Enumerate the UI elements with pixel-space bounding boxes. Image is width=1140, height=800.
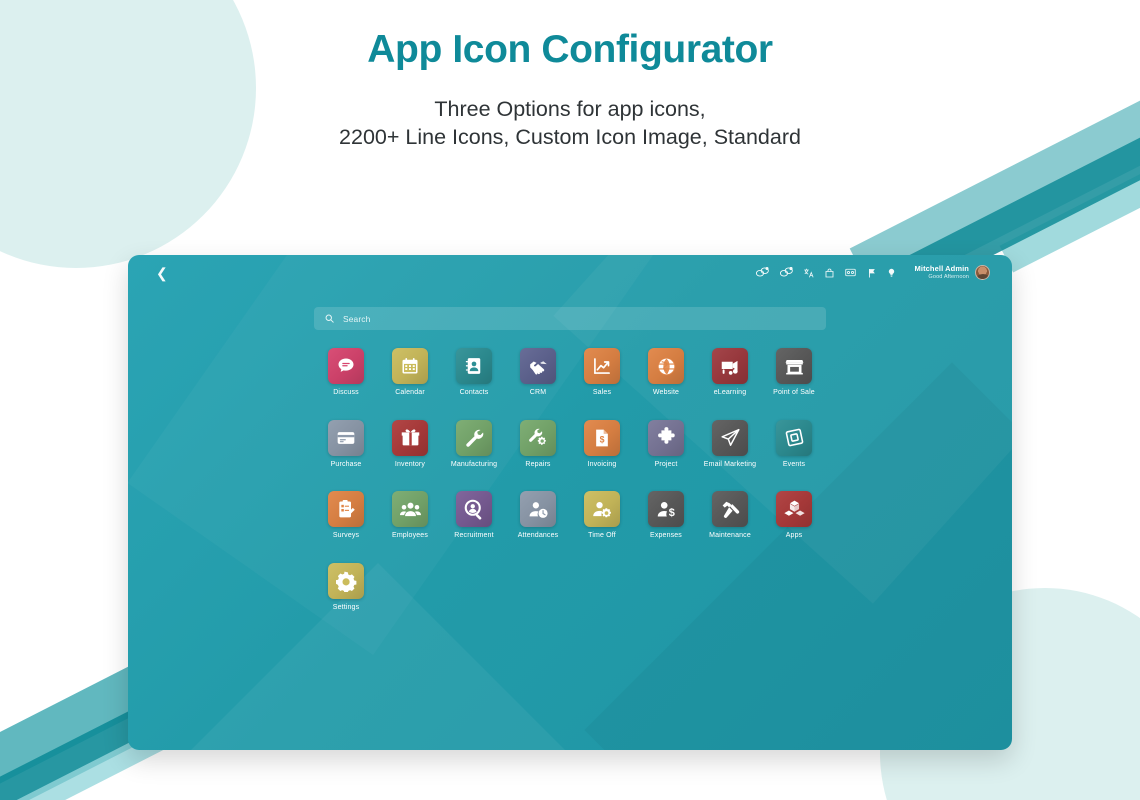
app-label: Apps (786, 532, 803, 540)
subtitle-line-1: Three Options for app icons, (0, 95, 1140, 123)
app-item-surveys[interactable]: Surveys (314, 491, 378, 540)
bag-icon[interactable] (825, 268, 834, 278)
hammer-icon (712, 491, 748, 527)
storefront-icon (776, 348, 812, 384)
app-item-crm[interactable]: CRM (506, 348, 570, 397)
page-title: App Icon Configurator (0, 28, 1140, 73)
promo-headings: App Icon Configurator Three Options for … (0, 28, 1140, 152)
app-label: Point of Sale (773, 389, 815, 397)
gear-icon (328, 563, 364, 599)
svg-text:$: $ (600, 434, 605, 444)
app-item-attendances[interactable]: Attendances (506, 491, 570, 540)
avatar[interactable] (975, 265, 990, 280)
app-item-maintenance[interactable]: Maintenance (698, 491, 762, 540)
app-label: Discuss (333, 389, 359, 397)
search-row: Search (128, 291, 1012, 330)
app-label: Attendances (518, 532, 559, 540)
systray: Mitchell Admin Good Afternoon (756, 265, 990, 280)
user-name: Mitchell Admin (915, 265, 969, 274)
app-item-sales[interactable]: Sales (570, 348, 634, 397)
person-gear-icon (584, 491, 620, 527)
user-text: Mitchell Admin Good Afternoon (915, 265, 969, 280)
subtitle-line-2: 2200+ Line Icons, Custom Icon Image, Sta… (0, 123, 1140, 151)
puzzle-icon (648, 420, 684, 456)
svg-text:$: $ (668, 507, 674, 519)
app-label: Email Marketing (704, 461, 756, 469)
promo-banner: App Icon Configurator Three Options for … (0, 0, 1140, 800)
app-label: Purchase (331, 461, 362, 469)
page-subtitle: Three Options for app icons, 2200+ Line … (0, 95, 1140, 152)
search-input[interactable]: Search (314, 307, 826, 330)
app-item-elearning[interactable]: eLearning (698, 348, 762, 397)
calendar-icon (392, 348, 428, 384)
app-item-apps[interactable]: Apps (762, 491, 826, 540)
app-item-discuss[interactable]: Discuss (314, 348, 378, 397)
paper-plane-icon (712, 420, 748, 456)
app-grid-area: DiscussCalendarContactsCRMSalesWebsiteeL… (128, 330, 1012, 612)
cubes-icon (776, 491, 812, 527)
app-item-settings[interactable]: Settings (314, 563, 378, 612)
magnifier-icon (456, 491, 492, 527)
app-item-calendar[interactable]: Calendar (378, 348, 442, 397)
app-label: Maintenance (709, 532, 751, 540)
app-label: Surveys (333, 532, 359, 540)
app-item-email-marketing[interactable]: Email Marketing (698, 420, 762, 469)
app-item-point-of-sale[interactable]: Point of Sale (762, 348, 826, 397)
credit-card-icon (328, 420, 364, 456)
wrench-gear-icon (520, 420, 556, 456)
app-item-inventory[interactable]: Inventory (378, 420, 442, 469)
app-item-manufacturing[interactable]: Manufacturing (442, 420, 506, 469)
app-item-repairs[interactable]: Repairs (506, 420, 570, 469)
chevron-left-icon[interactable]: ❮ (156, 266, 168, 280)
app-label: Employees (392, 532, 428, 540)
app-label: CRM (530, 389, 546, 397)
chat-icon (328, 348, 364, 384)
activity-bubble-icon[interactable] (780, 267, 793, 278)
handshake-icon (520, 348, 556, 384)
app-grid: DiscussCalendarContactsCRMSalesWebsiteeL… (314, 348, 826, 612)
wrench-icon (456, 420, 492, 456)
app-item-project[interactable]: Project (634, 420, 698, 469)
contact-card-icon (456, 348, 492, 384)
app-item-invoicing[interactable]: $Invoicing (570, 420, 634, 469)
box-icon (392, 420, 428, 456)
app-label: Repairs (525, 461, 550, 469)
app-label: Sales (593, 389, 611, 397)
projector-icon (712, 348, 748, 384)
app-label: Expenses (650, 532, 682, 540)
app-label: Recruitment (454, 532, 493, 540)
card-icon[interactable] (845, 268, 856, 277)
app-label: Manufacturing (451, 461, 497, 469)
person-clock-icon (520, 491, 556, 527)
app-label: Project (655, 461, 678, 469)
app-label: Time Off (588, 532, 616, 540)
app-label: Events (783, 461, 805, 469)
app-label: Settings (333, 604, 360, 612)
app-label: Contacts (460, 389, 489, 397)
invoice-icon: $ (584, 420, 620, 456)
app-item-contacts[interactable]: Contacts (442, 348, 506, 397)
app-label: Inventory (395, 461, 425, 469)
app-label: Website (653, 389, 679, 397)
app-item-employees[interactable]: Employees (378, 491, 442, 540)
people-icon (392, 491, 428, 527)
user-menu[interactable]: Mitchell Admin Good Afternoon (915, 265, 990, 280)
flag-icon[interactable] (867, 268, 876, 278)
app-label: Invoicing (588, 461, 617, 469)
search-placeholder: Search (343, 314, 370, 324)
search-icon (325, 314, 334, 323)
app-item-purchase[interactable]: Purchase (314, 420, 378, 469)
clipboard-icon (328, 491, 364, 527)
app-label: Calendar (395, 389, 425, 397)
app-item-expenses[interactable]: $Expenses (634, 491, 698, 540)
app-window: ❮ (128, 255, 1012, 750)
translate-icon[interactable] (804, 268, 814, 278)
messages-bubble-icon[interactable] (756, 267, 769, 278)
app-item-events[interactable]: Events (762, 420, 826, 469)
ticket-icon (776, 420, 812, 456)
lightbulb-icon[interactable] (887, 268, 896, 278)
window-header: ❮ (128, 255, 1012, 291)
app-label: eLearning (714, 389, 747, 397)
user-greeting: Good Afternoon (915, 274, 969, 280)
person-money-icon: $ (648, 491, 684, 527)
app-item-time-off[interactable]: Time Off (570, 491, 634, 540)
app-item-website[interactable]: Website (634, 348, 698, 397)
globe-icon (648, 348, 684, 384)
chart-up-icon (584, 348, 620, 384)
app-item-recruitment[interactable]: Recruitment (442, 491, 506, 540)
